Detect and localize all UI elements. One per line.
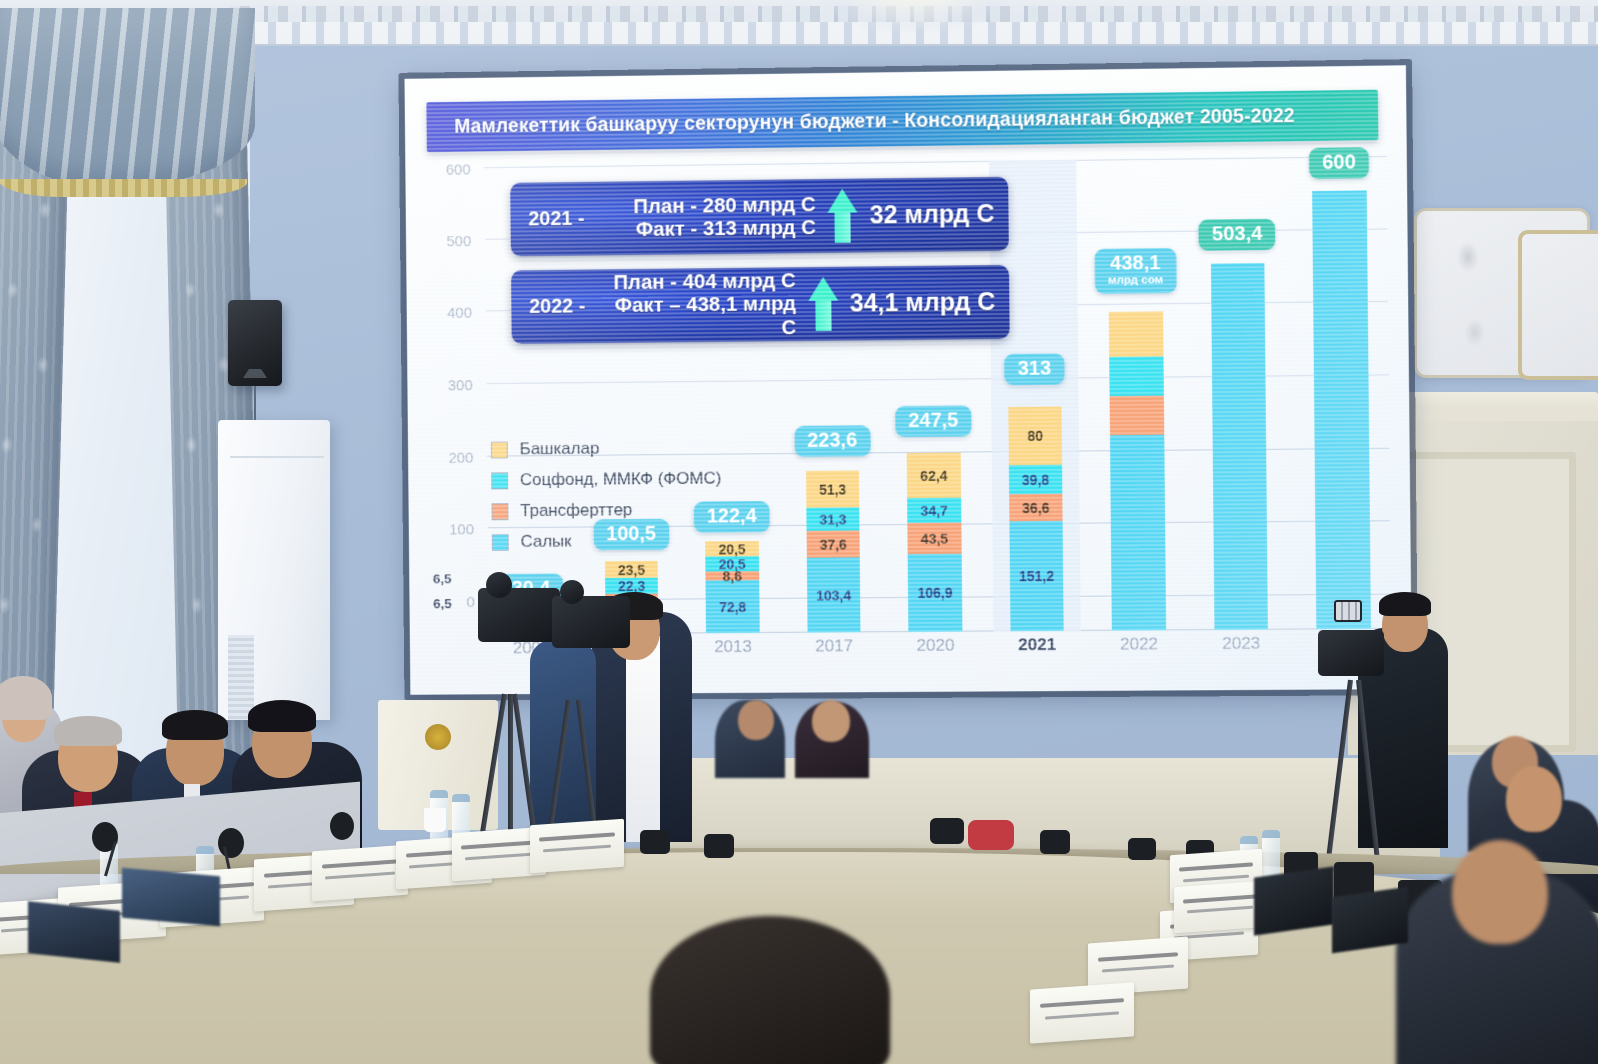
callout-2022-delta: 34,1 млрд С <box>850 288 996 319</box>
segment-socfund-2020: 34,7 <box>907 498 961 523</box>
x-label-2024: 2024 <box>1300 633 1387 668</box>
segment-transfers-2011: 15 <box>605 594 658 605</box>
legend-swatch-tax <box>492 534 509 551</box>
segment-other-2022 <box>1109 311 1163 357</box>
leader-label-group: 6,5 6,5 <box>433 571 497 621</box>
legend-label-other: Башкалар <box>520 439 600 460</box>
y-axis: 600 500 400 300 200 100 0 <box>427 167 485 635</box>
segment-tax-2020: 106,9 <box>908 554 962 632</box>
segment-other-2017: 51,3 <box>806 470 860 507</box>
segment-socfund-2022 <box>1109 356 1163 396</box>
speaker-cable <box>254 386 256 422</box>
legend-item-tax: Салык <box>492 530 722 552</box>
curtain-valance <box>0 8 255 188</box>
segment-transfers-2021: 36,6 <box>1009 494 1063 521</box>
segment-socfund-2011: 22,3 <box>605 578 658 594</box>
leader-label-2: 6,5 <box>433 596 496 611</box>
bar-stack-2023 <box>1211 263 1268 630</box>
segment-transfers-2022 <box>1110 396 1164 436</box>
total-badge-2024: 600 <box>1309 147 1369 179</box>
total-badge-2021: 313 <box>1005 353 1065 385</box>
segment-tax-2005 <box>505 622 558 634</box>
y-tick-400: 400 <box>447 304 472 321</box>
x-label-2021: 2021 <box>994 635 1081 670</box>
legend-swatch-other <box>491 441 508 458</box>
callout-2021-year: 2021 - <box>528 207 602 231</box>
door-panel <box>1386 452 1576 752</box>
segment-transfers-2020: 43,5 <box>908 523 962 554</box>
legend-swatch-transfers <box>491 503 508 520</box>
callout-2022-plan: План - 404 млрд С <box>602 269 796 294</box>
total-badge-2023: 503,4 <box>1199 218 1276 250</box>
projection-screen: Мамлекеттик башкаруу секторунун бюджети … <box>404 65 1412 695</box>
segment-other-2011: 23,5 <box>605 561 658 578</box>
chart-legend: Башкалар Соцфонд, ММКФ (ФОМС) Трансфертт… <box>491 438 722 563</box>
bar-column-2022[interactable]: 438,1 млрд сом <box>1091 159 1182 631</box>
legend-swatch-socfund <box>491 472 508 489</box>
callout-2022-year: 2022 - <box>529 295 603 319</box>
bar-column-2023[interactable]: 503,4 <box>1193 157 1284 630</box>
y-tick-200: 200 <box>448 449 473 466</box>
wall-speaker <box>228 300 282 386</box>
legend-label-tax: Салык <box>520 532 571 552</box>
segment-tax-2022 <box>1110 435 1166 631</box>
callout-2022-lines: План - 404 млрд С Факт – 438,1 млрд С <box>602 269 796 340</box>
callout-2021-delta: 32 млрд С <box>870 199 995 229</box>
legend-item-socfund: Соцфонд, ММКФ (ФОМС) <box>491 469 721 491</box>
segment-other-2020: 62,4 <box>907 453 961 498</box>
slide-title-bar: Мамлекеттик башкаруу секторунун бюджети … <box>426 90 1378 152</box>
segment-transfers-2017: 37,6 <box>806 530 860 557</box>
slide-title: Мамлекеттик башкаруу секторунун бюджети … <box>427 104 1295 138</box>
total-badge-2017: 223,6 <box>794 425 870 457</box>
bar-stack-2020: 106,9 43,5 34,7 62,4 <box>907 453 962 632</box>
segment-tax-2017: 103,4 <box>807 557 861 632</box>
up-arrow-icon <box>828 189 858 243</box>
x-label-2022: 2022 <box>1096 634 1183 669</box>
x-label-2020: 2020 <box>892 636 979 671</box>
bar-column-2024[interactable]: 600 <box>1295 156 1387 629</box>
segment-tax-2013: 72,8 <box>706 580 760 633</box>
legend-item-transfers: Трансферттер <box>491 499 721 521</box>
legend-label-transfers: Трансферттер <box>520 500 632 521</box>
segment-tax-2011 <box>605 605 658 634</box>
leader-label-1: 6,5 <box>433 571 496 586</box>
y-tick-100: 100 <box>449 521 474 538</box>
segment-socfund-2021: 39,8 <box>1009 465 1063 494</box>
segment-socfund-2017: 31,3 <box>806 507 860 530</box>
x-label-2023: 2023 <box>1198 634 1285 669</box>
legend-label-socfund: Соцфонд, ММКФ (ФОМС) <box>520 469 722 491</box>
chandelier-glow <box>820 0 1010 30</box>
total-badge-2022: 438,1 млрд сом <box>1095 248 1177 294</box>
total-badge-2022-units: млрд сом <box>1108 275 1163 287</box>
callout-2022-fact: Факт – 438,1 млрд С <box>602 293 796 341</box>
callout-2021-plan: План - 280 млрд С <box>601 193 815 219</box>
bar-stack-2011: 15 22,3 23,5 <box>605 561 659 634</box>
bar-stack-2005 <box>505 604 558 634</box>
x-label-2013: 2013 <box>690 637 776 671</box>
x-label-2011: 2011 <box>589 637 675 671</box>
air-conditioner <box>218 420 330 720</box>
segment-socfund-2005 <box>505 612 558 617</box>
y-tick-600: 600 <box>446 161 471 178</box>
segment-total-2024 <box>1312 190 1370 629</box>
total-badge-2022-value: 438,1 <box>1110 252 1161 275</box>
x-label-2005: 2005 <box>489 638 575 672</box>
segment-other-2021: 80 <box>1008 407 1062 466</box>
bar-stack-2021: 151,2 36,6 39,8 80 <box>1008 407 1064 632</box>
legend-item-other: Башкалар <box>491 438 721 460</box>
segment-transfers-2005 <box>505 617 558 622</box>
callout-2021-fact: Факт - 313 млрд С <box>602 216 816 242</box>
chart-plot-area: 600 500 400 300 200 100 0 6,5 6,5 30,4 <box>427 156 1392 677</box>
wall-damask-panel-secondary <box>1518 230 1598 380</box>
bar-stack-2024 <box>1312 190 1370 629</box>
callout-2022: 2022 - План - 404 млрд С Факт – 438,1 мл… <box>511 265 1010 344</box>
bar-stack-2017: 103,4 37,6 31,3 51,3 <box>806 470 861 632</box>
callout-2021-lines: План - 280 млрд С Факт - 313 млрд С <box>601 193 816 242</box>
segment-tax-2021: 151,2 <box>1009 521 1064 632</box>
segment-total-2023 <box>1211 263 1268 630</box>
segment-other-2005 <box>505 604 558 612</box>
up-arrow-icon <box>808 277 838 331</box>
total-badge-2005: 30,4 <box>499 573 564 605</box>
total-badge-2020: 247,5 <box>895 405 971 437</box>
callout-2021: 2021 - План - 280 млрд С Факт - 313 млрд… <box>510 177 1009 257</box>
y-tick-300: 300 <box>448 377 473 394</box>
y-tick-500: 500 <box>446 233 471 250</box>
bar-stack-2022 <box>1109 311 1166 630</box>
segment-transfers-2013: 8,6 <box>706 571 759 580</box>
x-label-2017: 2017 <box>791 636 877 670</box>
x-axis: 2005 2011 2013 2017 2020 2021 2022 2023 … <box>489 633 1388 673</box>
